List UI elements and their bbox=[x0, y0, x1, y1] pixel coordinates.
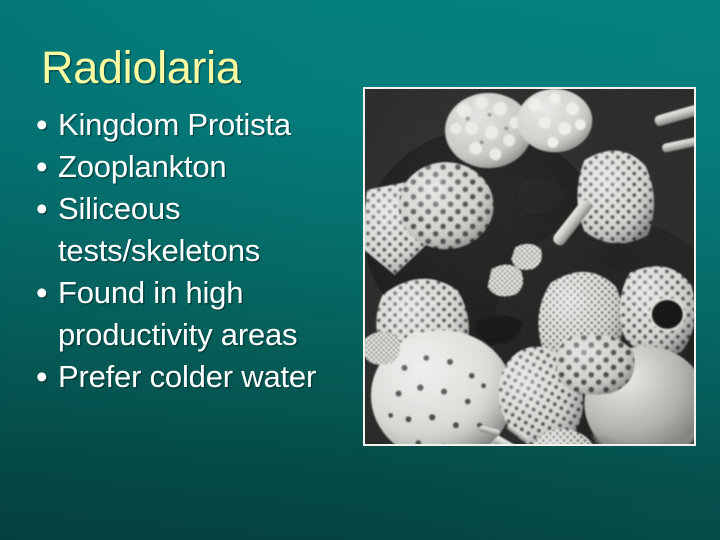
bullet-text: Prefer colder water bbox=[58, 356, 356, 398]
bullet-text: Zooplankton bbox=[58, 146, 356, 188]
bullet-text: Kingdom Protista bbox=[58, 104, 356, 146]
radiolaria-sem-micrograph bbox=[363, 87, 696, 446]
bullet-marker-icon: • bbox=[36, 272, 58, 314]
bullet-marker-icon: • bbox=[36, 146, 58, 188]
bullet-list: • Kingdom Protista • Zooplankton • Silic… bbox=[36, 104, 356, 398]
list-item: • Prefer colder water bbox=[36, 356, 356, 398]
bullet-marker-icon: • bbox=[36, 188, 58, 230]
list-item: • Found in high productivity areas bbox=[36, 272, 356, 356]
page-title: Radiolaria bbox=[41, 43, 241, 93]
micrograph-artwork bbox=[365, 89, 694, 444]
list-item: • Kingdom Protista bbox=[36, 104, 356, 146]
bullet-text: Siliceous tests/skeletons bbox=[58, 188, 356, 272]
bullet-marker-icon: • bbox=[36, 356, 58, 398]
bullet-marker-icon: • bbox=[36, 104, 58, 146]
slide-canvas: Radiolaria • Kingdom Protista • Zooplank… bbox=[0, 0, 720, 540]
list-item: • Siliceous tests/skeletons bbox=[36, 188, 356, 272]
bullet-text: Found in high productivity areas bbox=[58, 272, 356, 356]
list-item: • Zooplankton bbox=[36, 146, 356, 188]
